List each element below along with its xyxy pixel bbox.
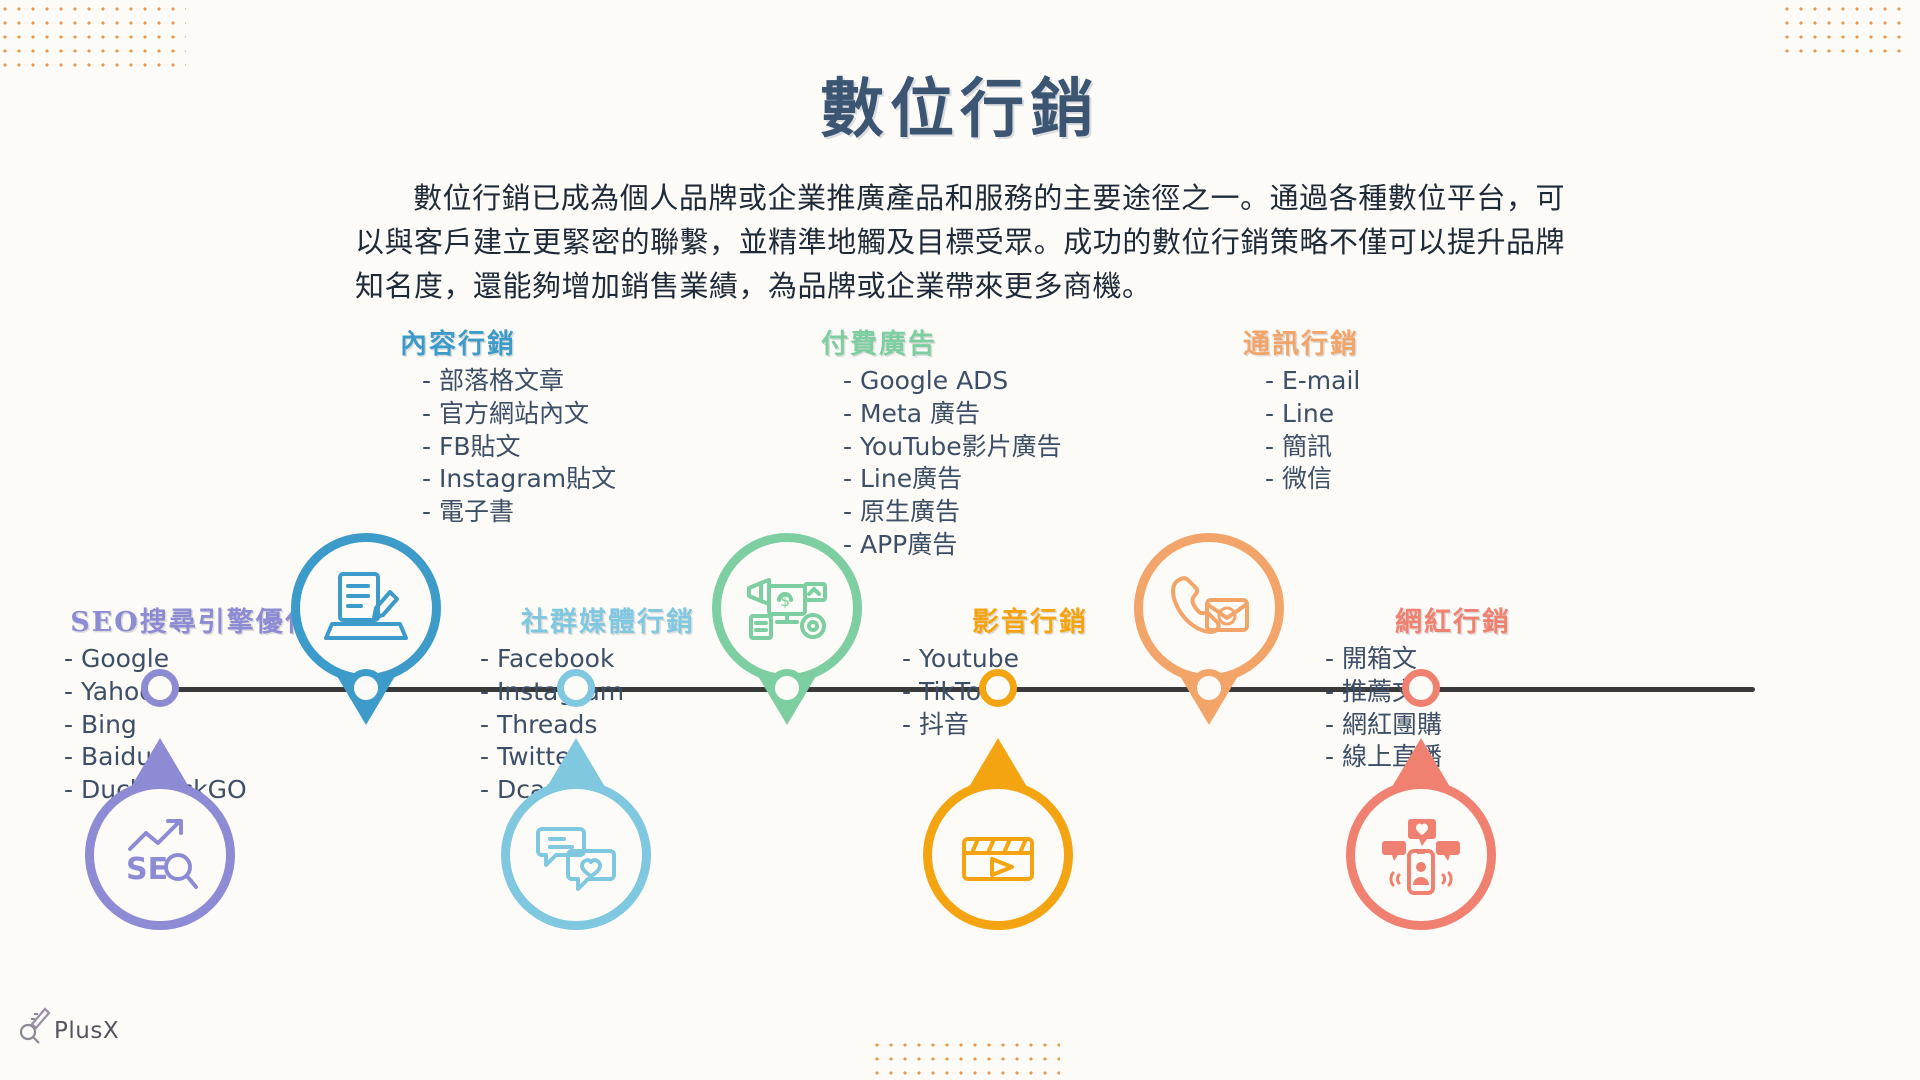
video-clapperboard-play-icon [950, 805, 1046, 906]
phone-envelope-at-icon [1161, 558, 1257, 659]
list-item: Line [1265, 400, 1543, 429]
document-laptop-pen-icon [318, 558, 414, 659]
label-block-paid-ads: 付費廣告 Google ADSMeta 廣告YouTube影片廣告Line廣告原… [821, 322, 1121, 564]
svg-text:SE: SE [126, 852, 168, 887]
brand-logo: PlusX [18, 1004, 119, 1044]
list-item: Line廣告 [843, 465, 1121, 494]
timeline-node-content-marketing[interactable] [347, 669, 385, 707]
search-pencil-icon [18, 1004, 52, 1044]
list-item: 簡訊 [1265, 433, 1543, 462]
list-item: 抖音 [902, 711, 1180, 740]
intro-paragraph: 數位行銷已成為個人品牌或企業推廣產品和服務的主要途徑之一。通過各種數位平台，可以… [355, 176, 1565, 308]
list-item: FB貼文 [422, 433, 700, 462]
seo-chart-magnifier-icon: SE [112, 805, 208, 906]
list-item: APP廣告 [843, 531, 1121, 560]
list-item: 推薦文 [1325, 678, 1603, 707]
list-item: 開箱文 [1325, 645, 1603, 674]
timeline: SE [0, 300, 1920, 940]
pin-messaging-marketing[interactable] [1134, 533, 1284, 683]
label-title-paid-ads: 付費廣告 [821, 322, 1121, 361]
label-list-influencer-marketing: 開箱文推薦文網紅團購線上直播 [1303, 645, 1603, 772]
list-item: 電子書 [422, 498, 700, 527]
list-item: 原生廣告 [843, 498, 1121, 527]
label-block-content-marketing: 內容行銷 部落格文章官方網站內文FB貼文Instagram貼文電子書 [400, 322, 700, 531]
label-block-influencer-marketing: 網紅行銷 開箱文推薦文網紅團購線上直播 [1303, 600, 1603, 776]
list-item: 線上直播 [1325, 743, 1603, 772]
label-title-content-marketing: 內容行銷 [400, 322, 700, 361]
label-title-influencer-marketing: 網紅行銷 [1303, 600, 1603, 639]
pin-disc [923, 780, 1073, 930]
pin-paid-ads[interactable]: $ [712, 533, 862, 683]
label-block-messaging-marketing: 通訊行銷 E-mailLine簡訊微信 [1243, 322, 1543, 498]
megaphone-ad-screen-icon: $ [739, 558, 835, 659]
timeline-node-messaging-marketing[interactable] [1190, 669, 1228, 707]
label-list-content-marketing: 部落格文章官方網站內文FB貼文Instagram貼文電子書 [400, 367, 700, 527]
phone-person-heart-icon [1373, 805, 1469, 906]
pin-social-media-marketing[interactable] [501, 780, 651, 930]
dot-pattern-bottom [870, 1038, 1060, 1078]
pin-disc [501, 780, 651, 930]
timeline-node-video-marketing[interactable] [979, 669, 1017, 707]
page-title: 數位行銷 [0, 0, 1920, 150]
timeline-node-social-media-marketing[interactable] [557, 669, 595, 707]
list-item: Instagram貼文 [422, 465, 700, 494]
list-item: Meta 廣告 [843, 400, 1121, 429]
timeline-node-paid-ads[interactable] [768, 669, 806, 707]
label-list-messaging-marketing: E-mailLine簡訊微信 [1243, 367, 1543, 494]
list-item: 微信 [1265, 465, 1543, 494]
timeline-node-influencer-marketing[interactable] [1402, 669, 1440, 707]
pin-disc [1346, 780, 1496, 930]
chat-bubbles-heart-icon [528, 805, 624, 906]
timeline-node-seo[interactable] [141, 669, 179, 707]
list-item: E-mail [1265, 367, 1543, 396]
pin-seo[interactable]: SE [85, 780, 235, 930]
label-title-messaging-marketing: 通訊行銷 [1243, 322, 1543, 361]
header: 數位行銷 數位行銷已成為個人品牌或企業推廣產品和服務的主要途徑之一。通過各種數位… [0, 0, 1920, 308]
list-item: Threads [480, 711, 758, 740]
list-item: 官方網站內文 [422, 400, 700, 429]
list-item: Twitter [480, 743, 758, 772]
pin-content-marketing[interactable] [291, 533, 441, 683]
pin-disc: SE [85, 780, 235, 930]
brand-name: PlusX [54, 1018, 119, 1044]
label-list-paid-ads: Google ADSMeta 廣告YouTube影片廣告Line廣告原生廣告AP… [821, 367, 1121, 560]
list-item: YouTube影片廣告 [843, 433, 1121, 462]
list-item: 網紅團購 [1325, 711, 1603, 740]
pin-influencer-marketing[interactable] [1346, 780, 1496, 930]
pin-disc [291, 533, 441, 683]
pin-video-marketing[interactable] [923, 780, 1073, 930]
list-item: Google ADS [843, 367, 1121, 396]
list-item: Baidu [64, 743, 342, 772]
pin-disc [1134, 533, 1284, 683]
svg-text:$: $ [780, 591, 790, 610]
list-item: Bing [64, 711, 342, 740]
list-item: 部落格文章 [422, 367, 700, 396]
pin-disc: $ [712, 533, 862, 683]
